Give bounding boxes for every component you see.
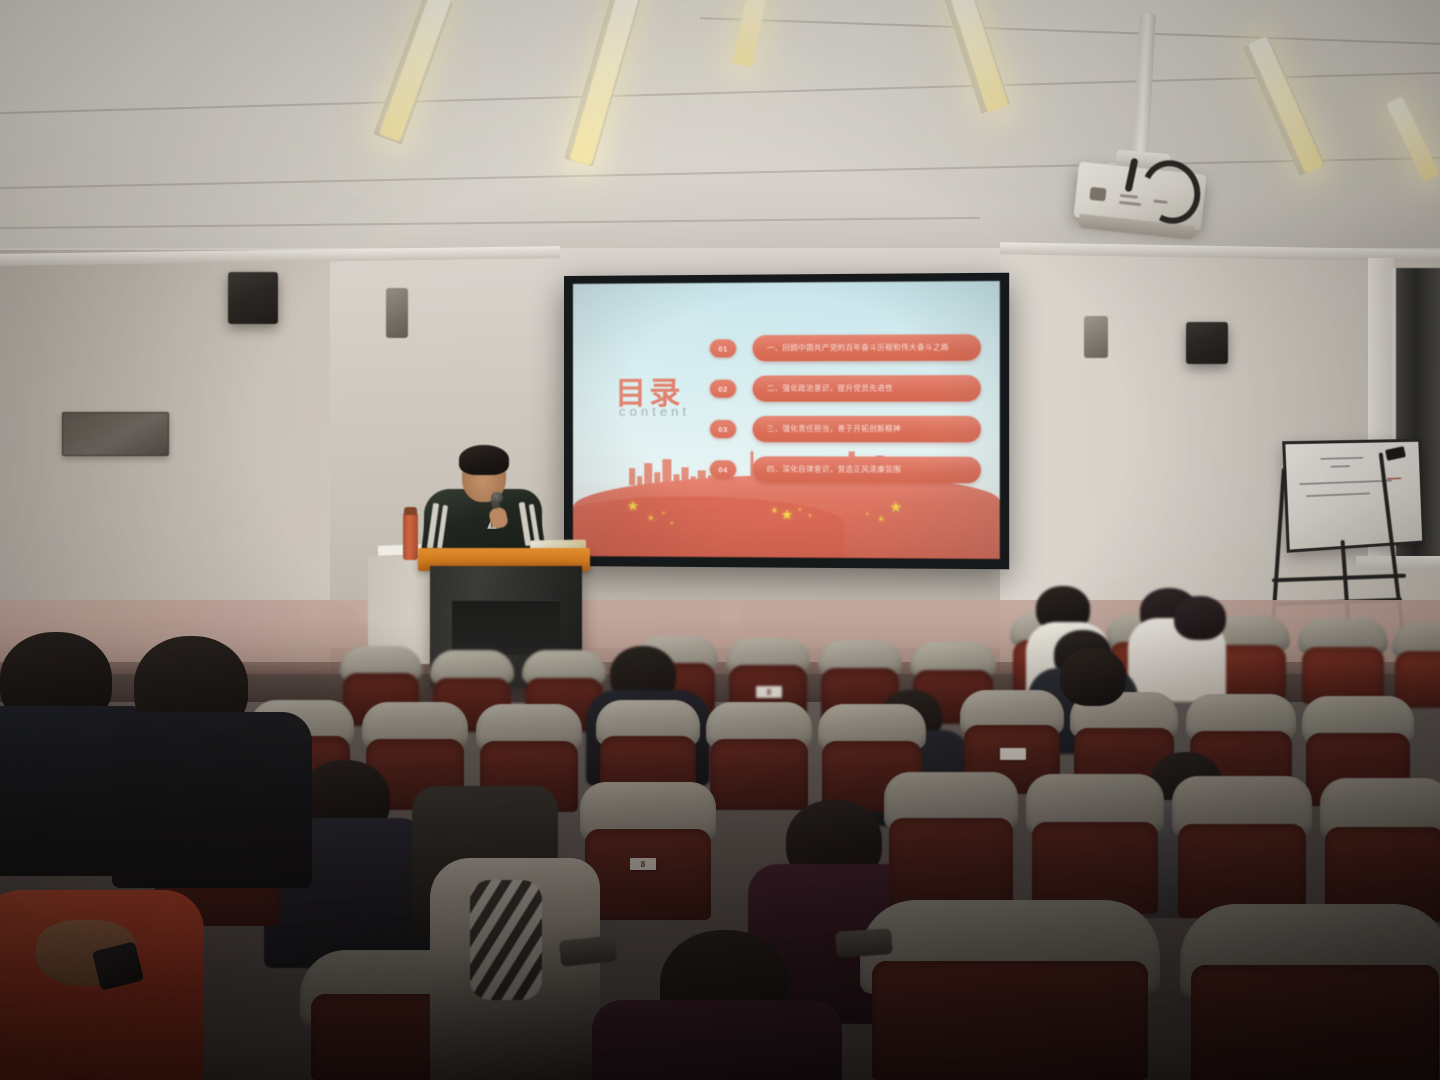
water-bottle-cap <box>404 507 417 515</box>
slide-ground-layer2 <box>573 496 844 558</box>
wall-speaker <box>386 288 408 338</box>
toc-item-text: 三、强化责任担当，善于开拓创新精神 <box>752 424 901 434</box>
toc-bar: 二、强化政治意识，提升党员先进性 <box>752 375 981 402</box>
projection-screen-frame: ★ ★ ★ ★ ★ ★ ★ ★ ★ ★ ★ 目录 content 01 一、回顾… <box>564 273 1009 570</box>
slide-title-en: content <box>619 404 690 419</box>
wall-sign <box>62 412 169 456</box>
audience-jacket-pattern <box>470 880 542 1000</box>
audience-body <box>112 712 312 888</box>
seat <box>1298 618 1388 704</box>
toc-bar: 四、深化自律意识，营造正风清廉氛围 <box>752 456 981 483</box>
podium-panel <box>452 600 560 655</box>
microphone-head <box>491 492 503 503</box>
window-sill <box>1356 556 1440 570</box>
seat-number-plate: 8 <box>630 858 656 870</box>
toc-badge: 02 <box>710 380 736 398</box>
seat: 8 <box>580 782 716 920</box>
seat-number-plate: 8 <box>756 686 782 698</box>
toc-row: 03 三、强化责任担当，善于开拓创新精神 <box>710 416 981 443</box>
toc-bar: 三、强化责任担当，善于开拓创新精神 <box>752 416 981 443</box>
toc-item-text: 二、强化政治意识，提升党员先进性 <box>752 383 893 393</box>
wall-speaker <box>1186 322 1228 364</box>
seat <box>1026 774 1164 914</box>
lecture-hall-photo: ★ ★ ★ ★ ★ ★ ★ ★ ★ ★ ★ 目录 content 01 一、回顾… <box>0 0 1440 1080</box>
ceiling <box>0 0 1440 262</box>
seat <box>1320 778 1440 922</box>
toc-badge: 04 <box>710 460 736 478</box>
seat <box>1172 776 1312 918</box>
toc-row: 01 一、回顾中国共产党的百年奋斗历程和伟大奋斗之路 <box>710 334 981 361</box>
seat <box>1180 904 1440 1080</box>
seat-armrest <box>559 935 617 967</box>
audience-head <box>1174 596 1226 640</box>
water-bottle <box>403 512 418 560</box>
toc-bar: 一、回顾中国共产党的百年奋斗历程和伟大奋斗之路 <box>752 334 981 361</box>
toc-badge: 01 <box>710 339 736 357</box>
wall-speaker <box>1084 316 1108 358</box>
toc-row: 02 二、强化政治意识，提升党员先进性 <box>710 375 981 402</box>
wall-speaker <box>228 272 278 324</box>
seat <box>884 772 1018 908</box>
presenter-hair <box>459 445 509 475</box>
seat <box>860 900 1160 1080</box>
audience-body <box>592 1000 842 1080</box>
toc-badge: 03 <box>710 420 736 438</box>
toc-item-text: 一、回顾中国共产党的百年奋斗历程和伟大奋斗之路 <box>752 342 948 353</box>
seat <box>706 702 812 810</box>
audience-head <box>1060 648 1126 706</box>
toc-item-text: 四、深化自律意识，营造正风清廉氛围 <box>752 464 901 474</box>
toc-row: 04 四、深化自律意识，营造正风清廉氛围 <box>710 456 981 483</box>
seat-armrest <box>835 928 893 958</box>
projection-screen: ★ ★ ★ ★ ★ ★ ★ ★ ★ ★ ★ 目录 content 01 一、回顾… <box>573 281 1000 559</box>
